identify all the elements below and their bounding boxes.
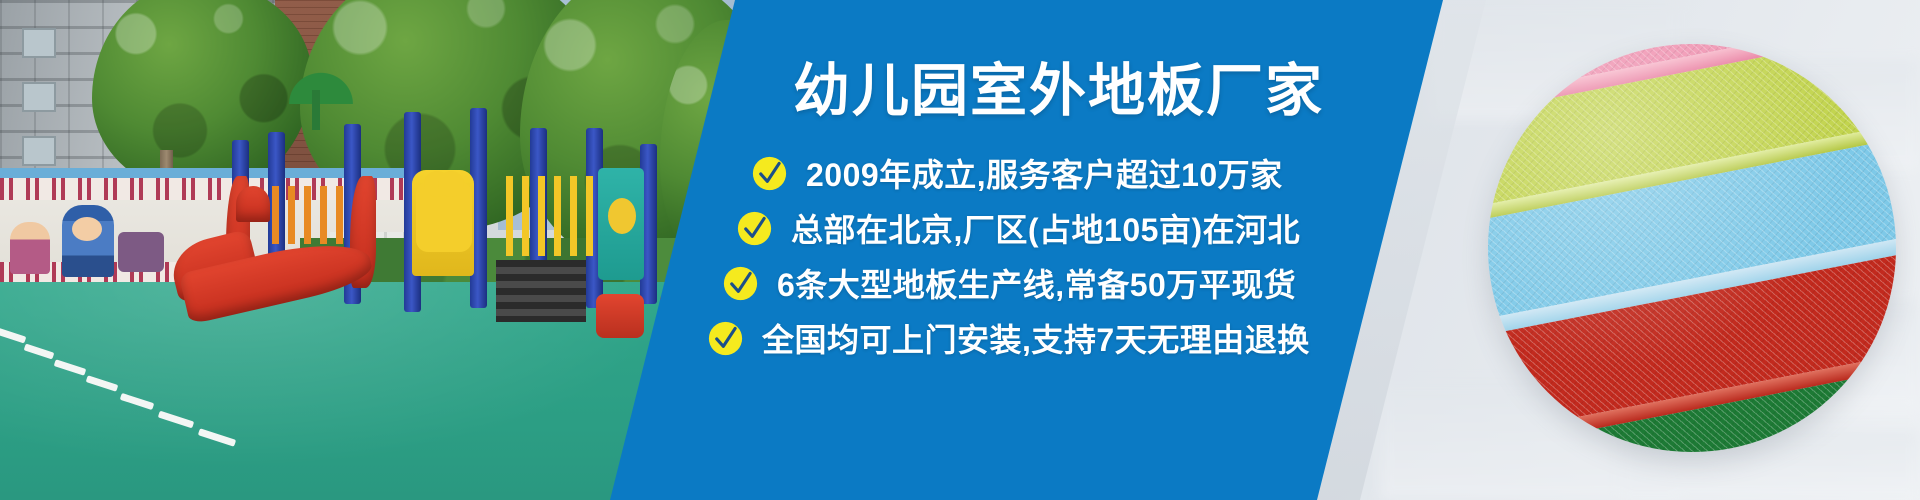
list-item-label: 6条大型地板生产线,常备50万平现货 — [777, 260, 1296, 306]
list-item: 2009年成立,服务客户超过10万家 — [752, 150, 1283, 196]
list-item: 全国均可上门安装,支持7天无理由退换 — [708, 315, 1310, 361]
list-item-label: 2009年成立,服务客户超过10万家 — [806, 150, 1283, 196]
list-item: 总部在北京,厂区(占地105亩)在河北 — [737, 205, 1300, 251]
list-item: 6条大型地板生产线,常备50万平现货 — [723, 260, 1296, 306]
list-item-label: 总部在北京,厂区(占地105亩)在河北 — [791, 205, 1300, 251]
check-circle-icon — [752, 156, 787, 191]
check-circle-icon — [723, 266, 758, 301]
flooring-stack — [1488, 44, 1896, 452]
check-circle-icon — [737, 211, 772, 246]
list-item-label: 全国均可上门安装,支持7天无理由退换 — [762, 315, 1310, 361]
promo-banner: 幼儿园室外地板厂家 2009年成立,服务客户超过10万家 总部在北京,厂区(占地… — [0, 0, 1920, 500]
flooring-samples-circle-photo — [1488, 44, 1896, 452]
check-circle-icon — [708, 321, 743, 356]
